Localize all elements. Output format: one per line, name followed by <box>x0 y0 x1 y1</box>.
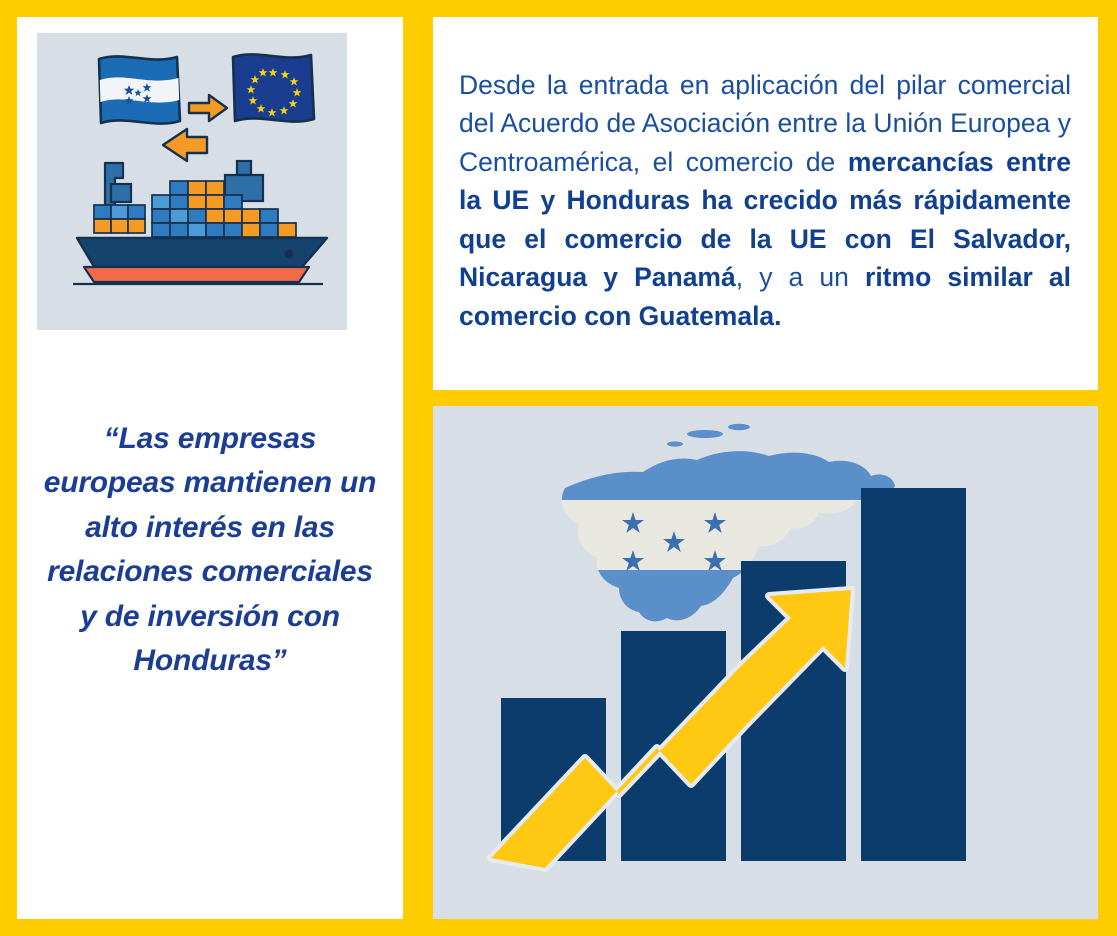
summary-text-card: Desde la entrada en aplicación del pilar… <box>433 17 1098 390</box>
container-ship-icon <box>73 161 327 284</box>
bar-4 <box>861 488 966 861</box>
quote-text: “Las empresas europeas mantienen un alto… <box>35 417 385 683</box>
arrow-left-icon <box>163 129 207 161</box>
honduras-flag-icon <box>99 56 180 123</box>
eu-honduras-trade-illustration <box>37 33 347 330</box>
eu-flag-icon <box>233 54 314 121</box>
growth-chart-svg <box>433 406 1098 919</box>
left-column-card: “Las empresas europeas mantienen un alto… <box>17 17 403 919</box>
paragraph-run: , y a un <box>736 262 865 292</box>
summary-paragraph: Desde la entrada en aplicación del pilar… <box>459 66 1071 336</box>
trade-illustration-svg <box>37 33 347 330</box>
growth-chart-panel <box>433 406 1098 919</box>
infographic-frame: “Las empresas europeas mantienen un alto… <box>0 0 1117 936</box>
arrow-right-icon <box>189 95 227 121</box>
